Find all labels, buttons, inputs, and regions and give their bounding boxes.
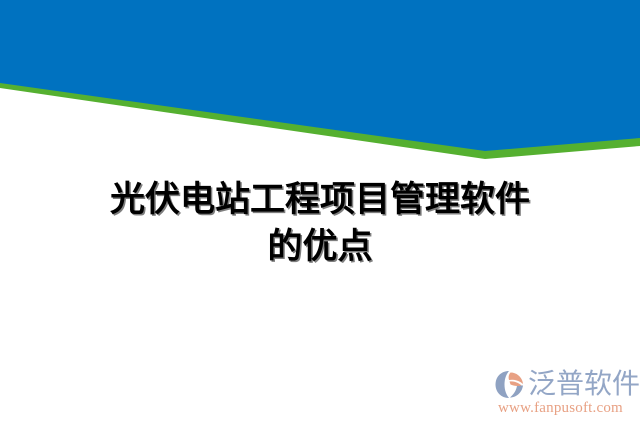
fanpu-swirl-logo-icon [494, 368, 526, 400]
brand-logo-row: 泛普软件 [494, 367, 640, 401]
slide-title: 光伏电站工程项目管理软件 的优点 [0, 176, 640, 270]
presentation-slide: 光伏电站工程项目管理软件 的优点 泛普软件 www.fanpusoft.com [0, 0, 640, 427]
slide-title-line-2: 的优点 [0, 223, 640, 270]
brand-url-text: www.fanpusoft.com [498, 400, 634, 417]
header-banner-shape [0, 0, 640, 160]
slide-title-line-1: 光伏电站工程项目管理软件 [0, 176, 640, 223]
brand-logo: 泛普软件 www.fanpusoft.com [494, 359, 634, 421]
header-blue-shape [0, 0, 640, 151]
brand-name-text: 泛普软件 [528, 369, 640, 399]
header-green-accent [0, 0, 640, 159]
